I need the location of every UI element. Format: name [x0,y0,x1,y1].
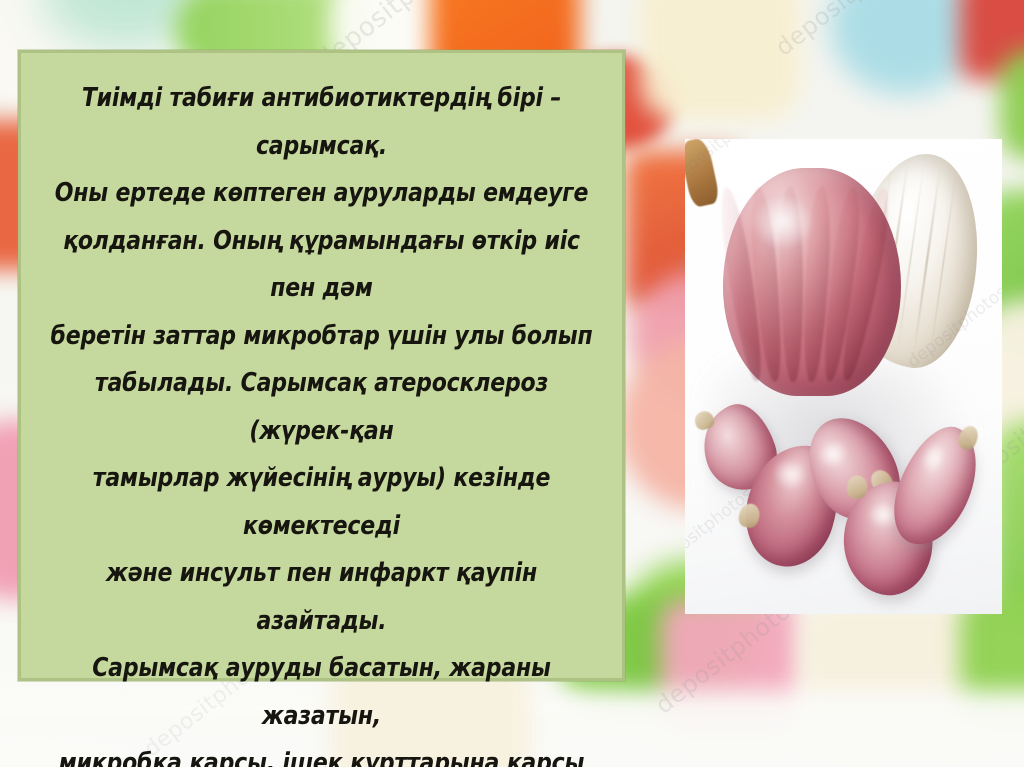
garlic-photo: depositphotos depositphotos depositphoto… [685,139,1002,614]
body-line: табылады. Сарымсақ атеросклероз (жүрек-қ… [46,360,596,455]
slide-body-text: Тиімді табиғи антибиотиктердің бірі – са… [46,75,596,767]
body-line: беретін заттар микробтар үшін улы болып [46,313,596,361]
body-line: Оны ертеде көптеген ауруларды емдеуге [46,170,596,218]
green-text-panel: Тиімді табиғи антибиотиктердің бірі – са… [18,50,625,681]
body-line: тамырлар жүйесінің ауруы) кезінде көмект… [46,455,596,550]
body-line: Тиімді табиғи антибиотиктердің бірі – са… [46,75,596,170]
body-line: микробқа қарсы, ішек құрттарына қарсы жә… [46,740,596,767]
garlic-bulb [723,168,901,396]
body-line: Сарымсақ ауруды басатын, жараны жазатын, [46,645,596,740]
body-line: және инсульт пен инфаркт қаупін азайтады… [46,550,596,645]
presentation-slide: depositphotos depositphotos depositphoto… [0,0,1024,767]
bg-capsule-cream-top2 [640,0,800,120]
bg-capsule-green-topright [1000,50,1024,160]
body-line: қолданған. Оның құрамындағы өткір иіс пе… [46,218,596,313]
